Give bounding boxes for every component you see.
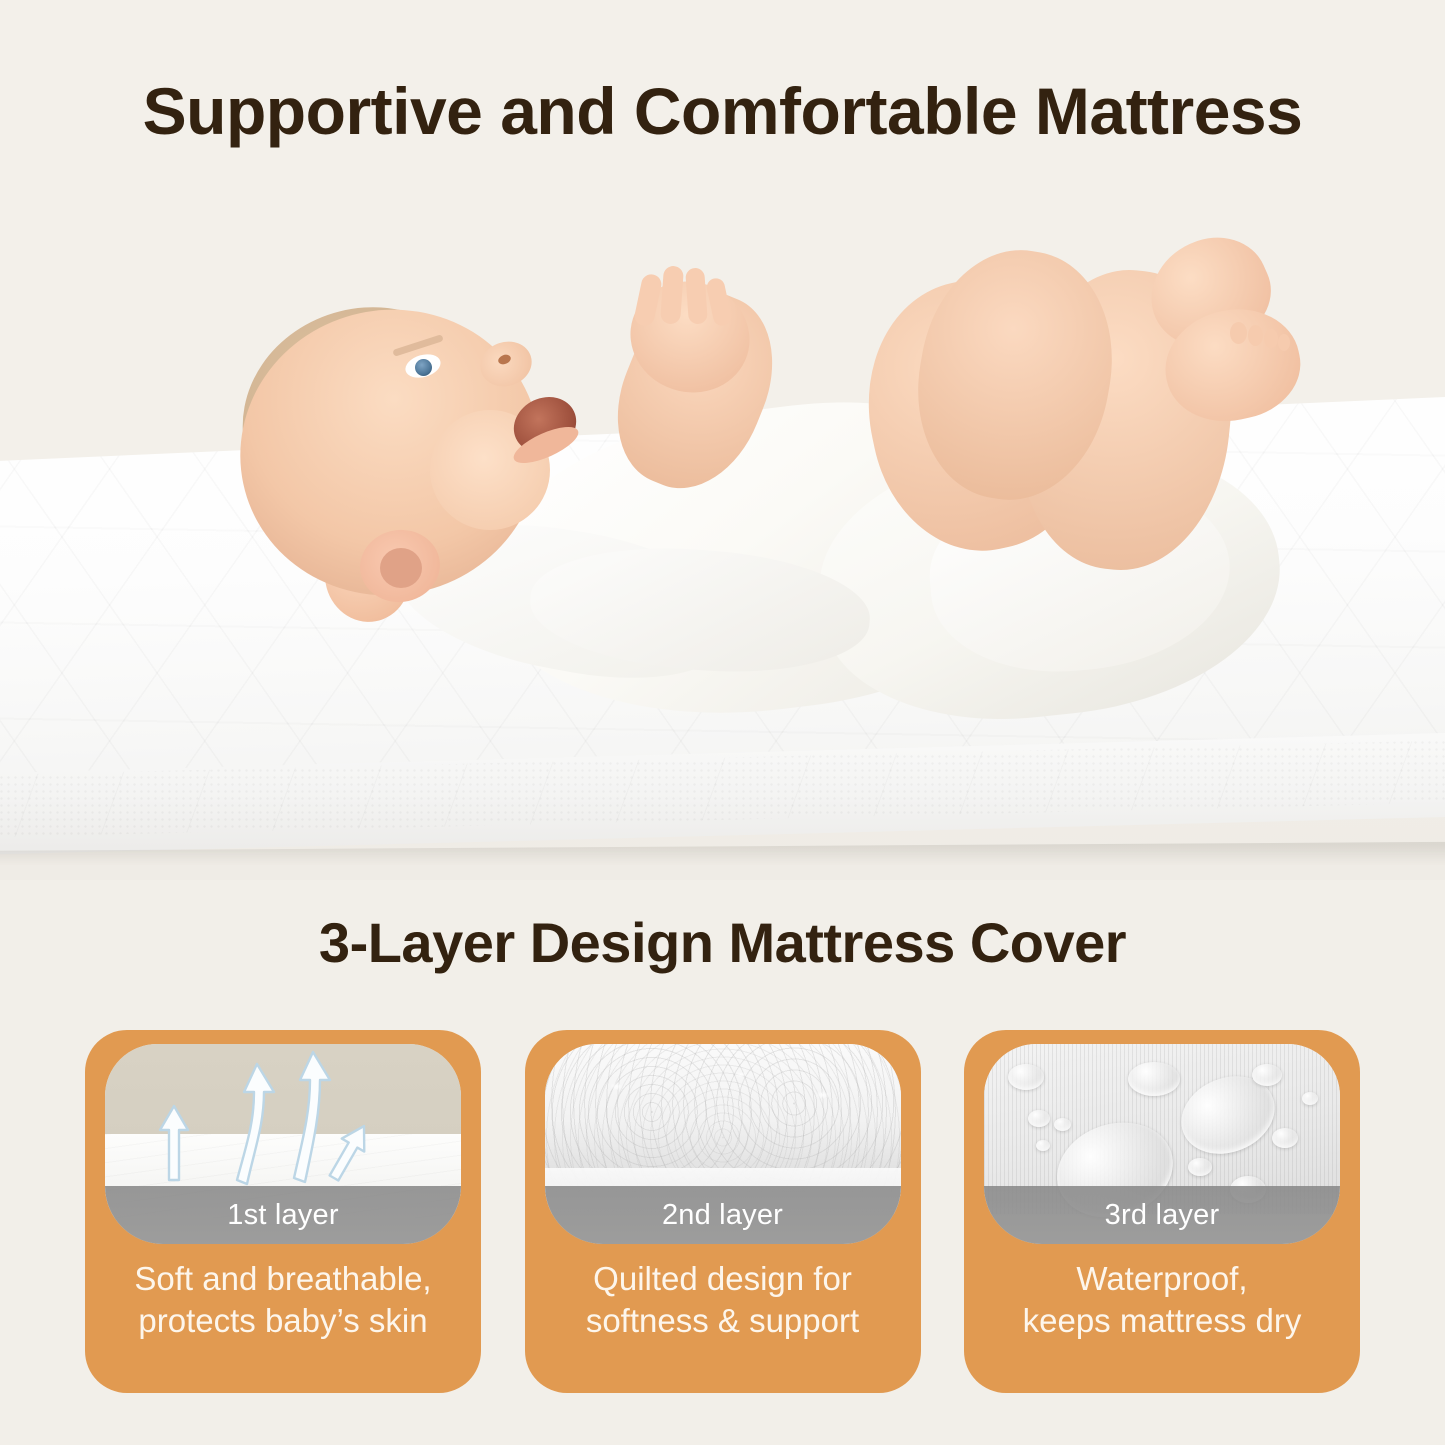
- layer-cards-row: 1st layer Soft and breathable, protects …: [85, 1030, 1360, 1393]
- layer-card-2[interactable]: 2nd layer Quilted design for softness & …: [525, 1030, 921, 1393]
- layer-3-image: 3rd layer: [984, 1044, 1340, 1244]
- layer-2-label-band: 2nd layer: [545, 1186, 901, 1244]
- layer-2-description-line2: softness & support: [539, 1300, 907, 1342]
- layer-3-label: 3rd layer: [1105, 1199, 1220, 1232]
- baby-toe: [1278, 334, 1290, 351]
- layers-section: 3-Layer Design Mattress Cover: [0, 880, 1445, 1445]
- water-droplets-icon: [1272, 1128, 1298, 1148]
- layer-3-label-band: 3rd layer: [984, 1186, 1340, 1244]
- airflow-arrows-icon: [233, 1062, 277, 1186]
- baby-toe: [1230, 322, 1247, 344]
- baby-inner-ear: [380, 548, 422, 588]
- hero-section: Supportive and Comfortable Mattress: [0, 0, 1445, 880]
- layer-2-image: 2nd layer: [545, 1044, 901, 1244]
- water-droplets-icon: [1188, 1158, 1212, 1176]
- baby-finger: [685, 267, 708, 324]
- baby-toe: [1264, 329, 1278, 348]
- layer-3-description-line2: keeps mattress dry: [978, 1300, 1346, 1342]
- layer-card-3[interactable]: 3rd layer Waterproof, keeps mattress dry: [964, 1030, 1360, 1393]
- page-title: Supportive and Comfortable Mattress: [0, 78, 1445, 144]
- product-infographic: Supportive and Comfortable Mattress: [0, 0, 1445, 1445]
- layer-1-label: 1st layer: [227, 1199, 338, 1232]
- water-droplets-icon: [1128, 1062, 1180, 1096]
- layer-1-image: 1st layer: [105, 1044, 461, 1244]
- water-droplets-icon: [1028, 1110, 1050, 1127]
- baby-photo: [230, 230, 1300, 660]
- layer-2-description: Quilted design for softness & support: [525, 1258, 921, 1342]
- layer-3-description-line1: Waterproof,: [978, 1258, 1346, 1300]
- baby-iris: [415, 359, 432, 376]
- layer-2-description-line1: Quilted design for: [539, 1258, 907, 1300]
- layer-1-description-line2: protects baby’s skin: [99, 1300, 467, 1342]
- water-droplets-icon: [1054, 1118, 1071, 1131]
- water-droplets-icon: [1302, 1092, 1318, 1105]
- baby-toe: [1248, 325, 1263, 346]
- baby-finger: [660, 265, 684, 324]
- section-title: 3-Layer Design Mattress Cover: [0, 910, 1445, 975]
- water-droplets-icon: [1036, 1140, 1050, 1151]
- layer-card-1[interactable]: 1st layer Soft and breathable, protects …: [85, 1030, 481, 1393]
- layer-3-description: Waterproof, keeps mattress dry: [964, 1258, 1360, 1342]
- layer-1-description: Soft and breathable, protects baby’s ski…: [85, 1258, 481, 1342]
- water-droplets-icon: [1252, 1064, 1282, 1086]
- layer-1-description-line1: Soft and breathable,: [99, 1258, 467, 1300]
- water-droplets-icon: [1008, 1064, 1044, 1090]
- airflow-arrows-icon: [157, 1104, 191, 1182]
- layer-2-label: 2nd layer: [662, 1199, 783, 1232]
- layer-1-label-band: 1st layer: [105, 1186, 461, 1244]
